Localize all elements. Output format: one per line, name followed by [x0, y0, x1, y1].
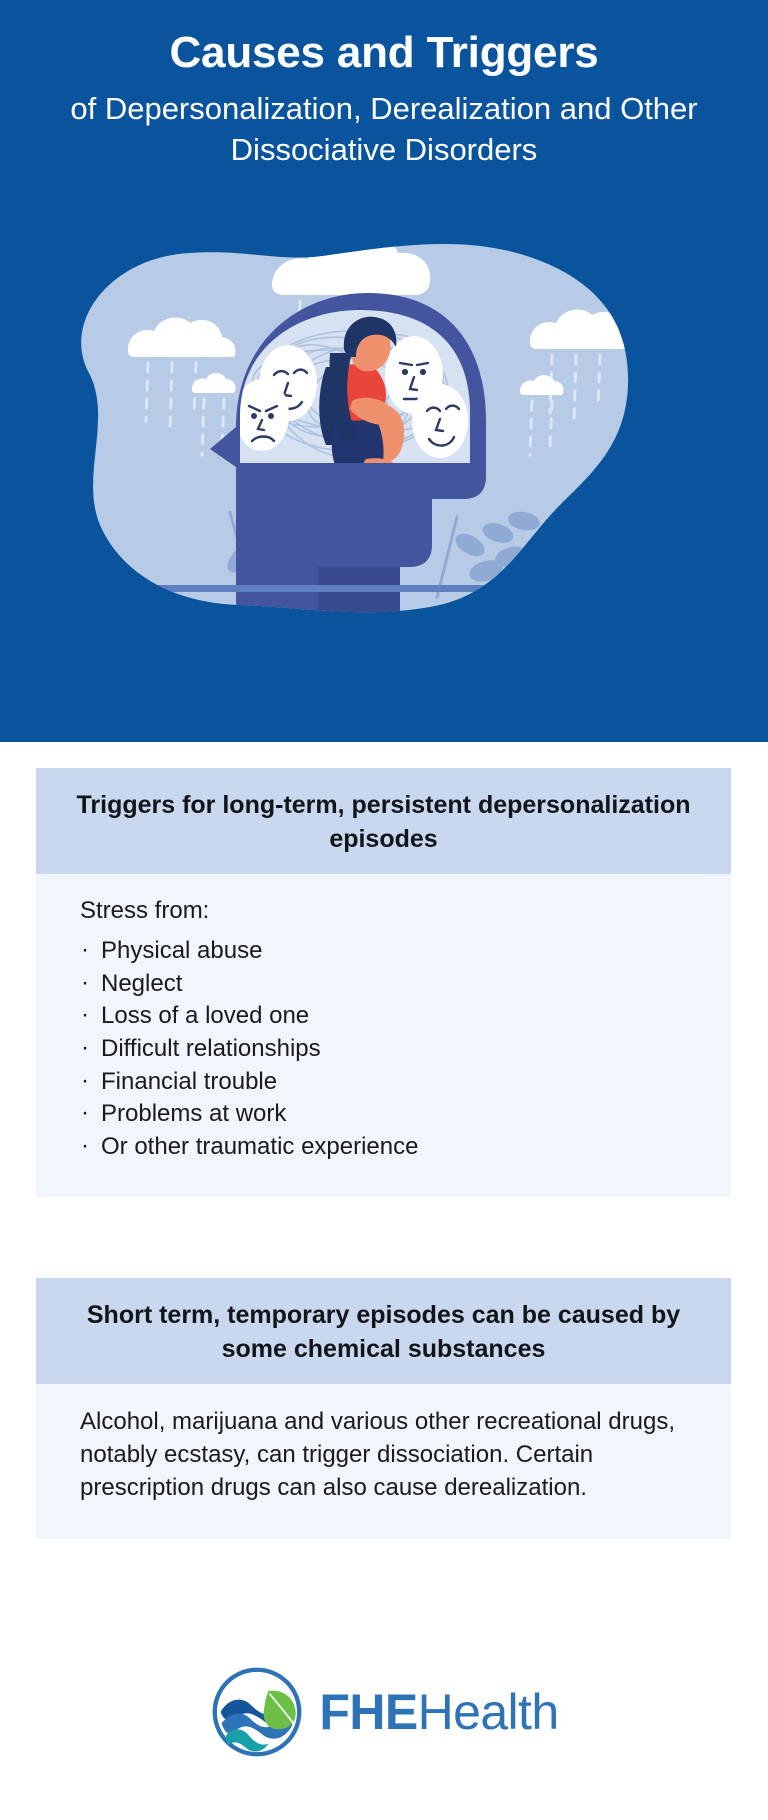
triggers-card-body: Stress from: Physical abuse Neglect Loss…: [36, 874, 731, 1197]
brand-wordmark: FHEHealth: [319, 1683, 558, 1741]
stress-from-label: Stress from:: [80, 896, 687, 926]
substances-paragraph: Alcohol, marijuana and various other rec…: [80, 1406, 687, 1505]
fhe-health-logo-icon: [209, 1664, 305, 1760]
triggers-list: Physical abuse Neglect Loss of a loved o…: [80, 935, 687, 1163]
ground-line: [138, 585, 630, 592]
substances-card-body: Alcohol, marijuana and various other rec…: [36, 1384, 731, 1539]
substances-card-header: Short term, temporary episodes can be ca…: [36, 1278, 731, 1384]
page-subtitle: of Depersonalization, Derealization and …: [64, 88, 704, 170]
list-item: Or other traumatic experience: [80, 1131, 687, 1164]
list-item: Loss of a loved one: [80, 1000, 687, 1033]
substances-card: Short term, temporary episodes can be ca…: [36, 1278, 731, 1539]
brand-name-bold: FHE: [319, 1684, 417, 1740]
list-item: Financial trouble: [80, 1066, 687, 1099]
brand-name-light: Health: [418, 1684, 559, 1740]
triggers-card: Triggers for long-term, persistent deper…: [36, 768, 731, 1197]
mask-grinning: [412, 384, 468, 458]
list-item: Difficult relationships: [80, 1033, 687, 1066]
page-title: Causes and Triggers: [0, 28, 768, 77]
list-item: Neglect: [80, 968, 687, 1001]
hero-banner: Causes and Triggers of Depersonalization…: [0, 0, 768, 742]
list-item: Problems at work: [80, 1098, 687, 1131]
triggers-card-header: Triggers for long-term, persistent deper…: [36, 768, 731, 874]
list-item: Physical abuse: [80, 935, 687, 968]
hero-illustration: [0, 215, 768, 635]
brand-footer: FHEHealth: [0, 1652, 768, 1772]
